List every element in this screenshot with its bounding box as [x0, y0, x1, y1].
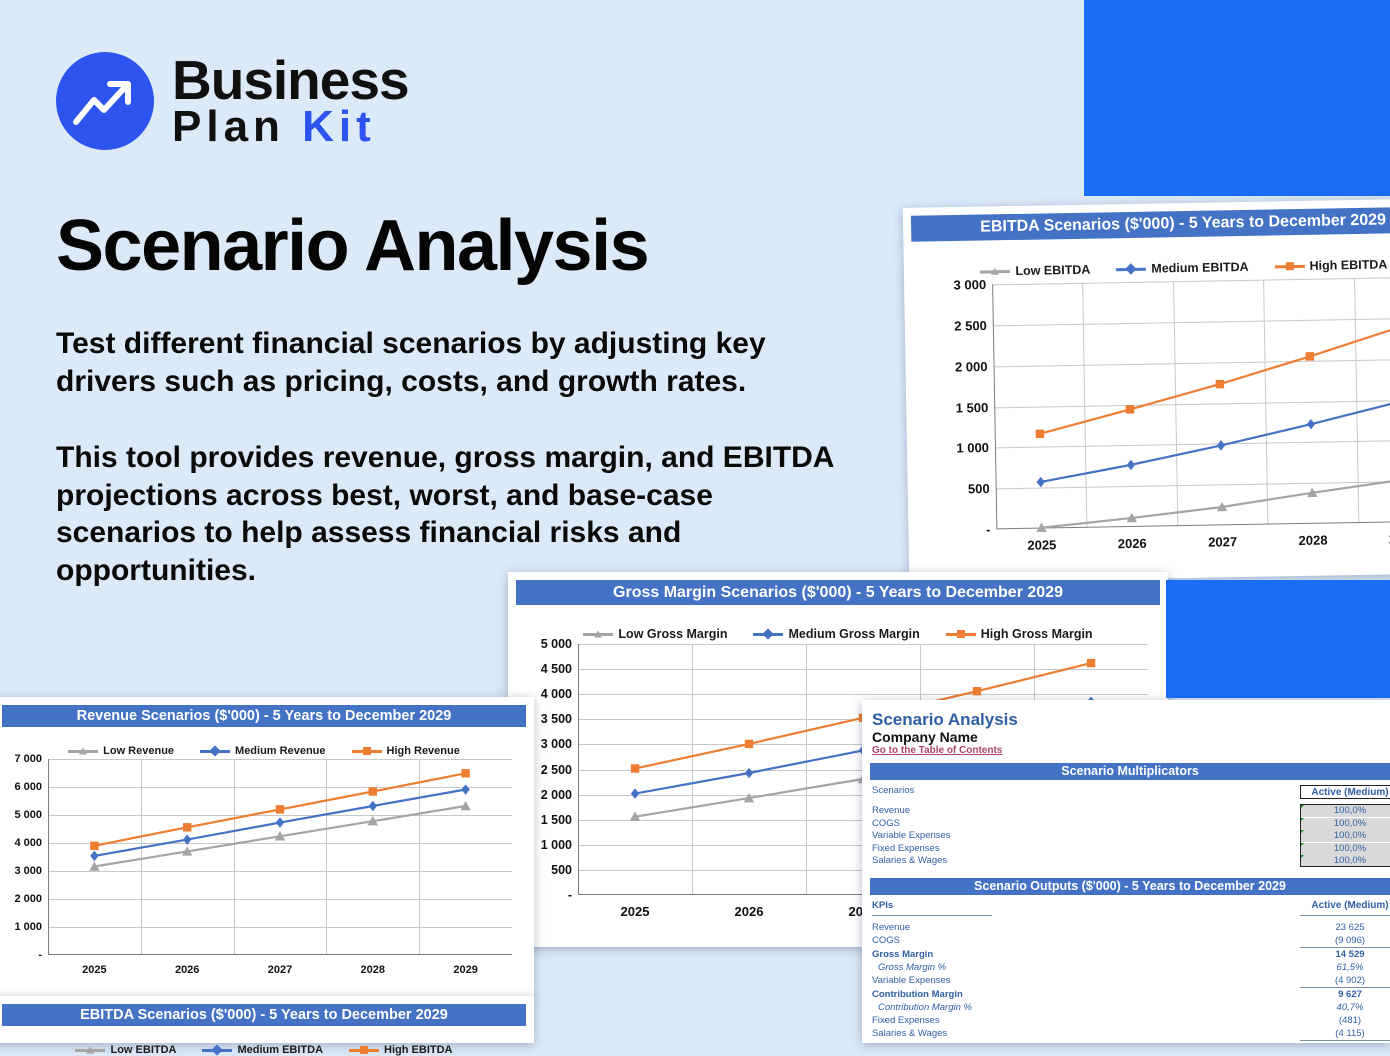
- cell-active: 100,0%: [1300, 818, 1390, 830]
- chart-legend: Low RevenueMedium RevenueHigh Revenue: [0, 745, 534, 757]
- legend-label: Low EBITDA: [1015, 263, 1090, 278]
- cell-active: 9 627: [1300, 989, 1390, 1000]
- cell-active: 61,5%: [1300, 962, 1390, 973]
- legend-swatch: [753, 633, 783, 636]
- scenario-analysis-sheet: Scenario Analysis Company Name Go to the…: [862, 700, 1390, 1043]
- y-axis-tick-label: 500: [968, 481, 990, 496]
- table-row: Fixed Expenses(529)(481)(457)(481): [862, 1015, 1390, 1027]
- legend-swatch: [583, 633, 613, 636]
- table-row: Contribution Margin %29,7%40,7%50,6%40,7…: [862, 1002, 1390, 1014]
- legend-label: High Gross Margin: [981, 627, 1093, 641]
- total-rule: [1300, 987, 1390, 988]
- cell-active: (9 096): [1300, 935, 1390, 946]
- legend-swatch: [946, 633, 976, 636]
- brand-name-line2: Plan Kit: [172, 106, 409, 148]
- table-row: COGS105,0%100,0%90,0%100,0%: [862, 818, 1390, 830]
- comment-marker-icon: [1300, 830, 1304, 834]
- x-axis-tick-label: 2027: [268, 964, 292, 976]
- row-label: Fixed Expenses: [872, 1015, 940, 1026]
- y-axis-tick-label: 1 500: [541, 813, 572, 827]
- column-header-label: Scenarios: [872, 785, 914, 796]
- legend-swatch: [202, 1049, 232, 1052]
- y-axis-tick-label: 2 500: [541, 763, 572, 777]
- legend-label: High Revenue: [387, 745, 460, 757]
- y-axis-tick-label: 1 000: [956, 440, 989, 456]
- table-row: Fixed Expenses110,0%100,0%95,0%100,0%: [862, 843, 1390, 855]
- brand-kit-text: Kit: [302, 102, 376, 151]
- chart-card-revenue: Revenue Scenarios ($'000) - 5 Years to D…: [0, 697, 534, 997]
- x-axis-tick-label: 2026: [175, 964, 199, 976]
- legend-label: Low EBITDA: [110, 1044, 176, 1056]
- sheet-company-name: Company Name: [872, 729, 978, 745]
- cell-active: 100,0%: [1300, 855, 1390, 867]
- y-axis-tick-label: 3 000: [541, 737, 572, 751]
- chart-card-ebitda-bottom: EBITDA Scenarios ($'000) - 5 Years to De…: [0, 996, 534, 1043]
- table-row: Salaries & Wages110,0%100,0%95,0%100,0%: [862, 855, 1390, 867]
- y-axis-tick-label: 5 000: [14, 809, 42, 821]
- growth-arrow-icon: [56, 52, 154, 150]
- x-axis-tick-label: 2026: [1118, 536, 1147, 552]
- row-label: Contribution Margin: [872, 989, 963, 1000]
- y-axis-tick-label: 2 000: [14, 893, 42, 905]
- legend-item: Medium EBITDA: [1116, 260, 1248, 276]
- page-title: Scenario Analysis: [56, 205, 648, 287]
- row-label: Gross Margin %: [878, 962, 946, 973]
- chart-card-ebitda-top: EBITDA Scenarios ($'000) - 5 Years to De…: [903, 198, 1390, 583]
- cell-active: (4 902): [1300, 975, 1390, 986]
- legend-swatch: [200, 750, 230, 753]
- y-axis-tick-label: 2 000: [541, 788, 572, 802]
- cell-active: 100,0%: [1300, 830, 1390, 842]
- chart-plot-area: -1 0002 0003 0004 0005 0006 0007 0002025…: [48, 759, 512, 955]
- row-label: Gross Margin: [872, 949, 933, 960]
- legend-item: Medium EBITDA: [202, 1044, 323, 1056]
- brand-plan-text: Plan: [172, 102, 302, 151]
- comment-marker-icon: [1300, 855, 1304, 859]
- row-label: COGS: [872, 935, 900, 946]
- table-row: Variable Expenses110,0%100,0%95,0%100,0%: [862, 830, 1390, 842]
- chart-legend: Low EBITDAMedium EBITDAHigh EBITDA: [0, 1044, 534, 1056]
- chart-title: EBITDA Scenarios ($'000) - 5 Years to De…: [911, 206, 1390, 241]
- total-rule: [1300, 947, 1390, 948]
- chart-title: EBITDA Scenarios ($'000) - 5 Years to De…: [2, 1004, 526, 1026]
- table-row: Revenue90,0%100,0%110,0%100,0%: [862, 805, 1390, 817]
- table-of-contents-link[interactable]: Go to the Table of Contents: [872, 745, 1002, 756]
- cell-active: 40,7%: [1300, 1002, 1390, 1013]
- legend-label: Low Gross Margin: [618, 627, 727, 641]
- cell-active: 23 625: [1300, 922, 1390, 933]
- chart-title: Revenue Scenarios ($'000) - 5 Years to D…: [2, 705, 526, 727]
- active-column-header: Active (Medium): [1300, 785, 1390, 799]
- legend-swatch: [75, 1049, 105, 1052]
- comment-marker-icon: [1300, 843, 1304, 847]
- legend-item: High EBITDA: [349, 1044, 452, 1056]
- chart-plot-area: -5001 0001 5002 0002 5003 00020252026202…: [992, 276, 1390, 529]
- decorative-blue-block-top: [1084, 0, 1390, 196]
- row-label: COGS: [872, 818, 900, 829]
- section-band: Scenario Outputs ($'000) - 5 Years to De…: [870, 878, 1390, 895]
- legend-label: High EBITDA: [384, 1044, 452, 1056]
- legend-swatch: [68, 750, 98, 753]
- row-label: Variable Expenses: [872, 975, 951, 986]
- y-axis-tick-label: 4 000: [14, 837, 42, 849]
- x-axis-tick-label: 2025: [1027, 537, 1056, 553]
- legend-item: High EBITDA: [1274, 257, 1387, 273]
- legend-item: High Revenue: [352, 745, 460, 757]
- row-label: Revenue: [872, 805, 910, 816]
- y-axis-tick-label: -: [568, 888, 572, 902]
- legend-swatch: [349, 1049, 379, 1052]
- y-axis-tick-label: 500: [551, 863, 572, 877]
- comment-marker-icon: [1300, 805, 1304, 809]
- row-label: Revenue: [872, 922, 910, 933]
- y-axis-tick-label: 4 000: [541, 687, 572, 701]
- table-row: COGS(9 551)(9 096)(8 186)(9 096): [862, 935, 1390, 947]
- row-label: Variable Expenses: [872, 830, 951, 841]
- table-header-row: KPIsLowMediumHighActive (Medium): [862, 900, 1390, 914]
- y-axis-tick-label: 3 000: [953, 277, 986, 293]
- legend-item: Low EBITDA: [980, 263, 1090, 279]
- brand-name-line1: Business: [172, 54, 409, 106]
- chart-series-svg: [48, 759, 512, 955]
- legend-label: Medium EBITDA: [237, 1044, 323, 1056]
- legend-item: Low EBITDA: [75, 1044, 176, 1056]
- chart-title: Gross Margin Scenarios ($'000) - 5 Years…: [516, 580, 1160, 605]
- column-header-label: KPIs: [872, 900, 893, 911]
- cell-active: 100,0%: [1300, 843, 1390, 855]
- legend-label: Low Revenue: [103, 745, 174, 757]
- table-row: Variable Expenses(5 393)(4 902)(4 657)(4…: [862, 975, 1390, 987]
- x-axis-tick-label: 2027: [1208, 534, 1237, 550]
- legend-swatch: [1275, 264, 1305, 268]
- y-axis-tick-label: 2 000: [955, 359, 988, 375]
- y-axis-tick-label: 4 500: [541, 662, 572, 676]
- y-axis-tick-label: 1 000: [541, 838, 572, 852]
- hero-paragraph-1: Test different financial scenarios by ad…: [56, 325, 846, 400]
- table-row: Contribution Margin6 3199 62713 1449 627: [862, 989, 1390, 1001]
- x-axis-tick-label: 2028: [1298, 533, 1327, 549]
- legend-item: Low Revenue: [68, 745, 174, 757]
- legend-swatch: [352, 750, 382, 753]
- cell-active: 100,0%: [1300, 805, 1390, 817]
- row-label: Contribution Margin %: [878, 1002, 972, 1013]
- active-column-header: Active (Medium): [1300, 900, 1390, 911]
- table-row: Salaries & Wages(4 527)(4 115)(3 910)(4 …: [862, 1028, 1390, 1040]
- x-axis-tick-label: 2025: [82, 964, 106, 976]
- cell-active: (481): [1300, 1015, 1390, 1026]
- legend-label: Medium Revenue: [235, 745, 325, 757]
- chart-series-svg: [992, 276, 1390, 529]
- table-row: Revenue21 26323 62525 98823 625: [862, 922, 1390, 934]
- cell-active: (4 115): [1300, 1028, 1390, 1039]
- legend-item: High Gross Margin: [946, 627, 1093, 641]
- comment-marker-icon: [1300, 818, 1304, 822]
- header-underline: [1300, 915, 1390, 916]
- y-axis-tick-label: 1 500: [956, 399, 989, 415]
- y-axis-tick-label: 3 000: [14, 865, 42, 877]
- y-axis-tick-label: 3 500: [541, 712, 572, 726]
- row-label: Salaries & Wages: [872, 855, 947, 866]
- cell-active: 14 529: [1300, 949, 1390, 960]
- table-header-row: ScenariosLowMediumHighActive (Medium): [862, 785, 1390, 799]
- y-axis-tick-label: 5 000: [541, 637, 572, 651]
- legend-label: Medium EBITDA: [1151, 260, 1248, 276]
- legend-label: Medium Gross Margin: [788, 627, 919, 641]
- decorative-blue-block-middle: [1166, 580, 1390, 698]
- legend-swatch: [980, 270, 1010, 274]
- y-axis-tick-label: -: [38, 949, 42, 961]
- legend-item: Medium Gross Margin: [753, 627, 919, 641]
- legend-label: High EBITDA: [1309, 257, 1387, 272]
- x-axis-tick-label: 2026: [735, 904, 764, 919]
- hero-paragraph-2: This tool provides revenue, gross margin…: [56, 439, 846, 589]
- section-band: Scenario Multiplicators: [870, 763, 1390, 780]
- x-axis-tick-label: 2028: [361, 964, 385, 976]
- row-label: Fixed Expenses: [872, 843, 940, 854]
- table-row: Gross Margin %55,1%61,5%68,5%61,5%: [862, 962, 1390, 974]
- legend-swatch: [1116, 267, 1146, 271]
- brand-logo: Business Plan Kit: [56, 52, 409, 150]
- header-underline: [872, 915, 992, 916]
- y-axis-tick-label: 7 000: [14, 753, 42, 765]
- y-axis-tick-label: -: [986, 522, 991, 537]
- y-axis-tick-label: 2 500: [954, 318, 987, 334]
- legend-item: Medium Revenue: [200, 745, 325, 757]
- y-axis-tick-label: 1 000: [14, 921, 42, 933]
- x-axis-tick-label: 2029: [453, 964, 477, 976]
- y-axis-tick-label: 6 000: [14, 781, 42, 793]
- row-label: Salaries & Wages: [872, 1028, 947, 1039]
- x-axis-tick-label: 2025: [621, 904, 650, 919]
- legend-item: Low Gross Margin: [583, 627, 727, 641]
- chart-legend: Low Gross MarginMedium Gross MarginHigh …: [508, 627, 1168, 641]
- sheet-title: Scenario Analysis: [872, 710, 1018, 730]
- table-row: Gross Margin11 71214 52917 80114 529: [862, 949, 1390, 961]
